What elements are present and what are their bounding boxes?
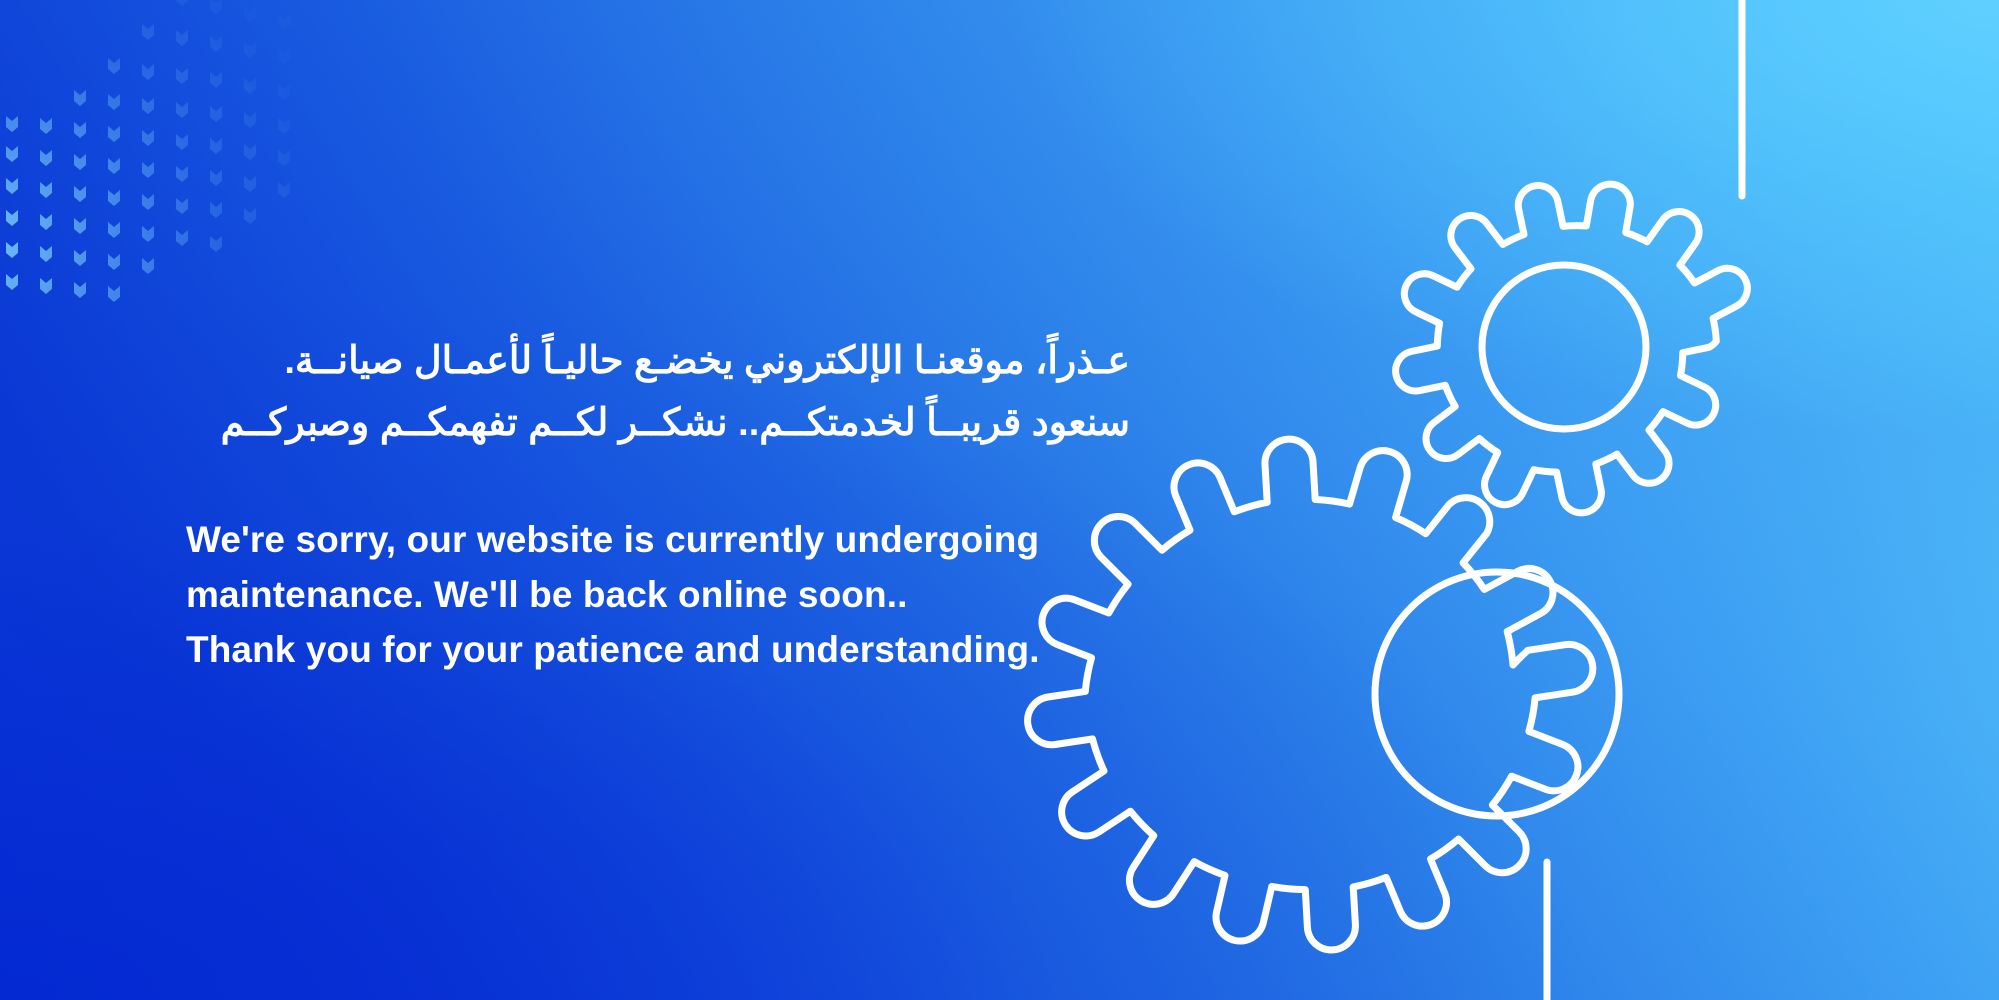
arabic-message: عـذراً، موقعنـا الإلكتروني يخضـع حاليـاً… (186, 330, 1130, 454)
english-line-1: We're sorry, our website is currently un… (186, 512, 1146, 567)
chevron-glyph-grid (0, 0, 290, 302)
chevron-dot-pattern (0, 0, 300, 320)
english-message: We're sorry, our website is currently un… (186, 512, 1146, 677)
maintenance-message-block: عـذراً، موقعنـا الإلكتروني يخضـع حاليـاً… (186, 330, 1146, 677)
maintenance-page: عـذراً، موقعنـا الإلكتروني يخضـع حاليـاً… (0, 0, 1999, 1000)
arabic-line-2: سنعود قريبــاً لخدمتكــم.. نشكــر لكــم … (186, 392, 1130, 454)
english-line-2: maintenance. We'll be back online soon.. (186, 567, 1146, 622)
chevron-pattern-svg (0, 0, 300, 320)
english-line-3: Thank you for your patience and understa… (186, 622, 1146, 677)
arabic-line-1: عـذراً، موقعنـا الإلكتروني يخضـع حاليـاً… (186, 330, 1130, 392)
